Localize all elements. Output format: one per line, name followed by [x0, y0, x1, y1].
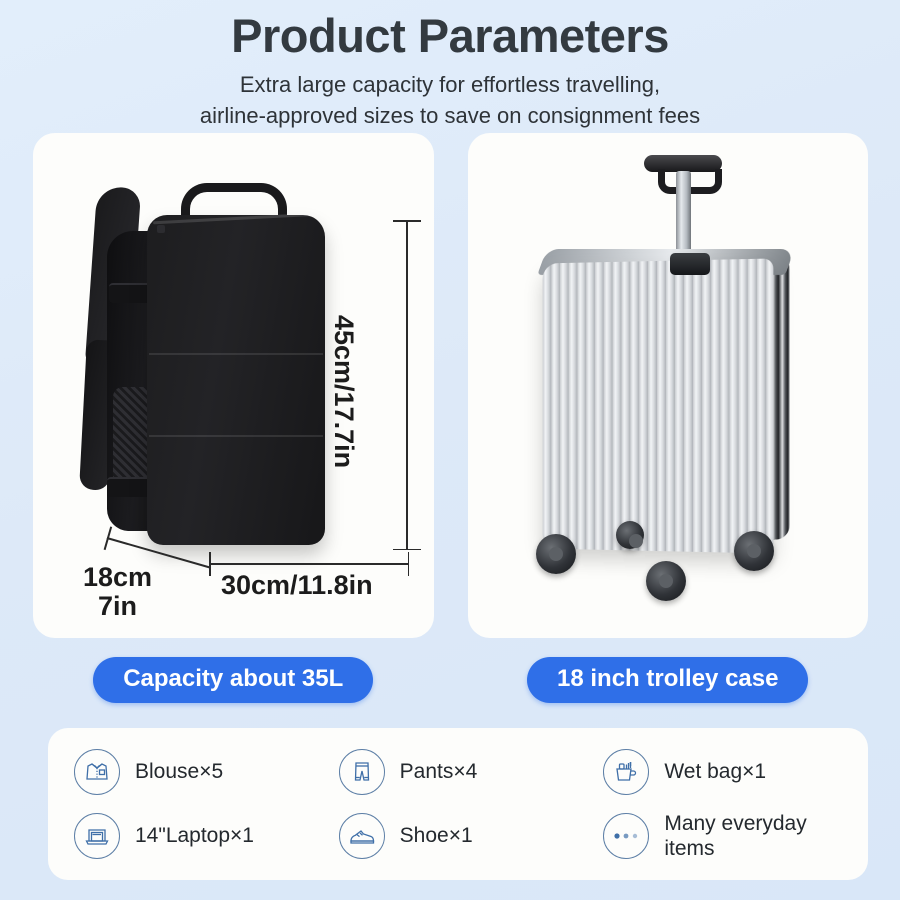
- product-card-trolley-case: [468, 133, 869, 638]
- pants-icon: [339, 749, 385, 795]
- shoe-icon: [339, 813, 385, 859]
- suitcase-image: [498, 149, 838, 624]
- feature-label-blouse: Blouse×5: [135, 759, 223, 784]
- page-header: Product Parameters Extra large capacity …: [0, 0, 900, 131]
- product-card-backpack: 45cm/17.7in 30cm/11.8in 18cm7in: [33, 133, 434, 638]
- suitcase-main-shell: [542, 258, 773, 553]
- badge-cell-trolley: 18 inch trolley case: [468, 657, 869, 703]
- page-subtitle: Extra large capacity for effortless trav…: [0, 69, 900, 131]
- depth-label-in: 7in: [98, 591, 137, 621]
- feature-item-shoe: Shoe×1: [339, 804, 604, 868]
- backpack-zipper-pull: [157, 225, 165, 233]
- depth-label-cm: 18cm: [83, 562, 152, 592]
- feature-item-pants: Pants×4: [339, 740, 604, 804]
- feature-label-pants: Pants×4: [400, 759, 478, 784]
- wetbag-icon: [603, 749, 649, 795]
- page-title: Product Parameters: [0, 10, 900, 63]
- backpack-image: 45cm/17.7in 30cm/11.8in 18cm7in: [61, 165, 361, 575]
- backpack-seam-lower: [149, 435, 323, 437]
- badge-trolley-size: 18 inch trolley case: [527, 657, 808, 703]
- feature-item-laptop: 14"Laptop×1: [74, 804, 339, 868]
- product-badges-row: Capacity about 35L 18 inch trolley case: [33, 657, 868, 703]
- feature-label-everyday: Many everyday items: [664, 811, 806, 861]
- badge-cell-backpack: Capacity about 35L: [33, 657, 434, 703]
- suitcase-wheel-front-right: [734, 531, 774, 571]
- width-dimension-line: [209, 563, 409, 565]
- suitcase-wheel-front-left: [536, 534, 576, 574]
- feature-item-wetbag: Wet bag×1: [603, 740, 868, 804]
- width-dimension-label: 30cm/11.8in: [221, 570, 373, 601]
- feature-item-blouse: Blouse×5: [74, 740, 339, 804]
- backpack-main-body: [147, 215, 325, 545]
- product-cards-row: 45cm/17.7in 30cm/11.8in 18cm7in: [33, 133, 868, 638]
- suitcase-wheel-rear: [616, 521, 644, 549]
- ellipsis-icon: [603, 813, 649, 859]
- badge-capacity: Capacity about 35L: [93, 657, 373, 703]
- suitcase-handle-grip: [644, 155, 722, 172]
- feature-item-everyday: Many everyday items: [603, 804, 868, 868]
- suitcase-wheel-front-center: [646, 561, 686, 601]
- feature-label-wetbag: Wet bag×1: [664, 759, 766, 784]
- backpack-seam-upper: [149, 353, 323, 355]
- height-dimension-line: [406, 220, 408, 550]
- feature-label-laptop: 14"Laptop×1: [135, 823, 254, 848]
- feature-label-shoe: Shoe×1: [400, 823, 473, 848]
- feature-list-card: Blouse×5 Pants×4 Wet bag×1: [48, 728, 868, 880]
- depth-dimension-label: 18cm7in: [83, 563, 152, 621]
- suitcase-latch: [670, 253, 710, 275]
- shirt-icon: [74, 749, 120, 795]
- height-dimension-label: 45cm/17.7in: [328, 315, 359, 468]
- laptop-icon: [74, 813, 120, 859]
